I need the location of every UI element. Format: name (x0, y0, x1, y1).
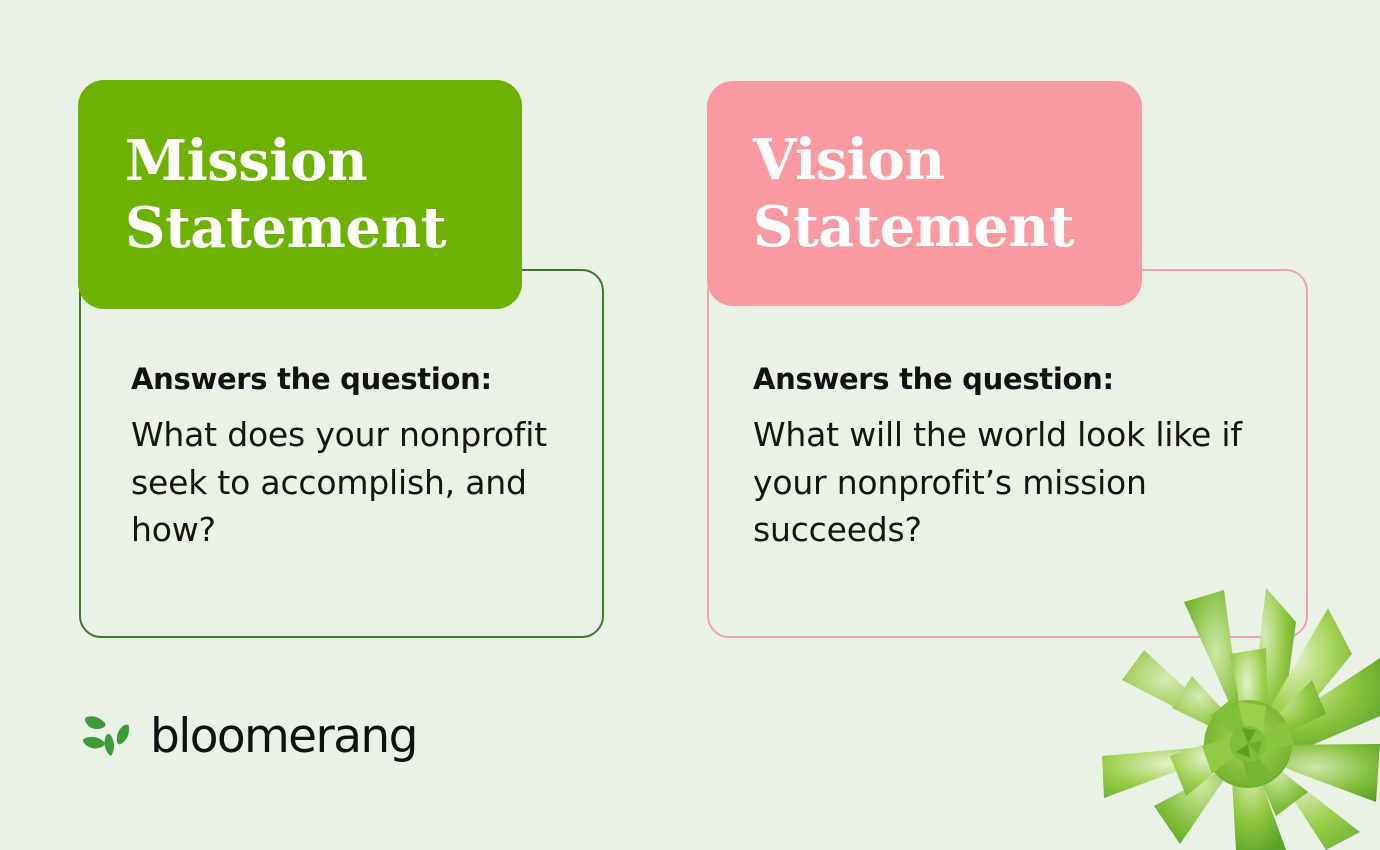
mission-question-label: Answers the question: (131, 362, 601, 397)
mission-card-body: Answers the question: What does your non… (131, 362, 601, 554)
mission-card-title: MissionStatement (125, 128, 446, 260)
vision-question-label: Answers the question: (753, 362, 1253, 397)
vision-card-body: Answers the question: What will the worl… (753, 362, 1253, 554)
vision-question-text: What will the world look like if your no… (753, 411, 1253, 555)
vision-title-line-2: Statement (753, 194, 1074, 260)
mission-question-text: What does your nonprofit seek to accompl… (131, 411, 601, 555)
bloomerang-leaf-mark-icon (80, 708, 136, 764)
vision-card-header: VisionStatement (707, 81, 1142, 306)
bloomerang-logo: bloomerang (80, 708, 417, 764)
vision-title-line-1: Vision (753, 127, 945, 193)
mission-card-header: MissionStatement (78, 80, 522, 309)
bloomerang-wordmark: bloomerang (150, 713, 417, 760)
mission-title-line-1: Mission (125, 128, 367, 194)
mission-title-line-2: Statement (125, 195, 446, 261)
vision-card-title: VisionStatement (753, 127, 1074, 259)
